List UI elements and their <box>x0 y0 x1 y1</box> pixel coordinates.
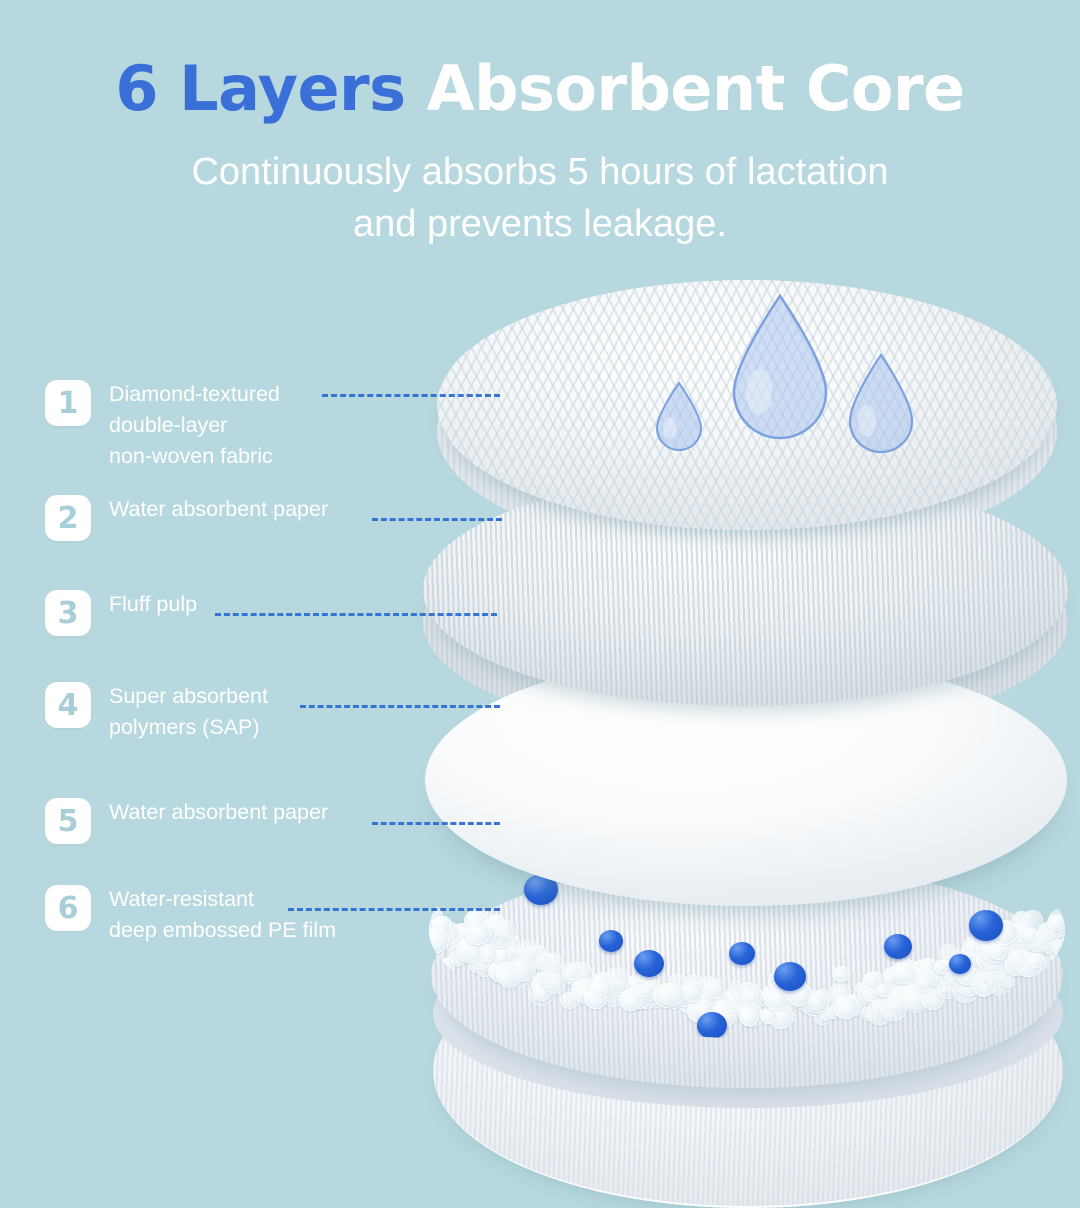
water-droplet-large <box>722 292 838 444</box>
legend-label-6-line-1: Water-resistant <box>109 884 336 915</box>
sap-blue-bead <box>634 950 664 977</box>
sap-granule <box>760 1008 777 1024</box>
legend-badge-2: 2 <box>45 495 91 541</box>
sap-granule <box>894 963 917 984</box>
sap-granule <box>876 984 890 997</box>
sap-blue-bead <box>697 1012 727 1038</box>
legend-label-1-line-2: double-layer <box>109 410 280 441</box>
legend-label-2: Water absorbent paper <box>109 494 328 525</box>
sap-blue-bead <box>729 942 755 965</box>
legend-badge-1: 1 <box>45 380 91 426</box>
layer-1-nonwoven-group <box>437 280 1057 550</box>
legend-item-3[interactable]: 3 Fluff pulp <box>45 590 197 636</box>
legend-badge-4: 4 <box>45 682 91 728</box>
water-droplet-small <box>651 380 707 454</box>
legend-label-4: Super absorbent polymers (SAP) <box>109 681 268 743</box>
legend-label-2-line-1: Water absorbent paper <box>109 494 328 525</box>
legend-label-5: Water absorbent paper <box>109 797 328 828</box>
sap-granule <box>1047 914 1065 931</box>
legend-item-4[interactable]: 4 Super absorbent polymers (SAP) <box>45 682 268 743</box>
legend-item-6[interactable]: 6 Water-resistant deep embossed PE film <box>45 885 336 946</box>
sap-granule <box>764 989 786 1010</box>
legend-label-4-line-2: polymers (SAP) <box>109 712 268 743</box>
sap-blue-bead <box>599 930 623 952</box>
legend-label-1-line-1: Diamond-textured <box>109 379 280 410</box>
legend-label-6: Water-resistant deep embossed PE film <box>109 884 336 946</box>
legend-label-5-line-1: Water absorbent paper <box>109 797 328 828</box>
infographic-canvas: 6 Layers Absorbent Core Continuously abs… <box>0 0 1080 1080</box>
legend-label-3: Fluff pulp <box>109 589 197 620</box>
legend-item-1[interactable]: 1 Diamond-textured double-layer non-wove… <box>45 380 280 472</box>
sap-granule <box>989 944 1007 960</box>
sap-blue-bead <box>969 910 1003 941</box>
sap-granule <box>937 979 959 999</box>
legend-badge-3: 3 <box>45 590 91 636</box>
sap-granule <box>915 975 933 992</box>
sap-granule <box>808 994 825 1010</box>
legend-label-1-line-3: non-woven fabric <box>109 441 280 472</box>
sap-granule <box>1008 949 1026 966</box>
sap-granule <box>703 978 726 999</box>
sap-granule <box>971 971 998 996</box>
sap-granule <box>560 992 579 1009</box>
water-droplet-medium <box>841 352 921 458</box>
legend-badge-6: 6 <box>45 885 91 931</box>
legend-label-3-line-1: Fluff pulp <box>109 589 197 620</box>
legend-item-2[interactable]: 2 Water absorbent paper <box>45 495 328 541</box>
sap-granule <box>593 983 608 997</box>
legend-label-4-line-1: Super absorbent <box>109 681 268 712</box>
sap-blue-bead <box>949 954 971 974</box>
sap-granule <box>832 966 850 982</box>
layer-legend: 1 Diamond-textured double-layer non-wove… <box>0 0 520 1080</box>
sap-granule <box>865 973 879 986</box>
sap-granule <box>1022 928 1037 942</box>
legend-label-6-line-2: deep embossed PE film <box>109 915 336 946</box>
sap-granule <box>1027 953 1043 968</box>
legend-item-5[interactable]: 5 Water absorbent paper <box>45 798 328 844</box>
sap-granule <box>880 997 907 1022</box>
legend-label-1: Diamond-textured double-layer non-woven … <box>109 379 280 472</box>
sap-blue-bead <box>774 962 806 991</box>
sap-granule <box>741 989 759 1005</box>
sap-granule <box>544 974 566 995</box>
legend-badge-5: 5 <box>45 798 91 844</box>
sap-blue-bead <box>884 934 912 959</box>
